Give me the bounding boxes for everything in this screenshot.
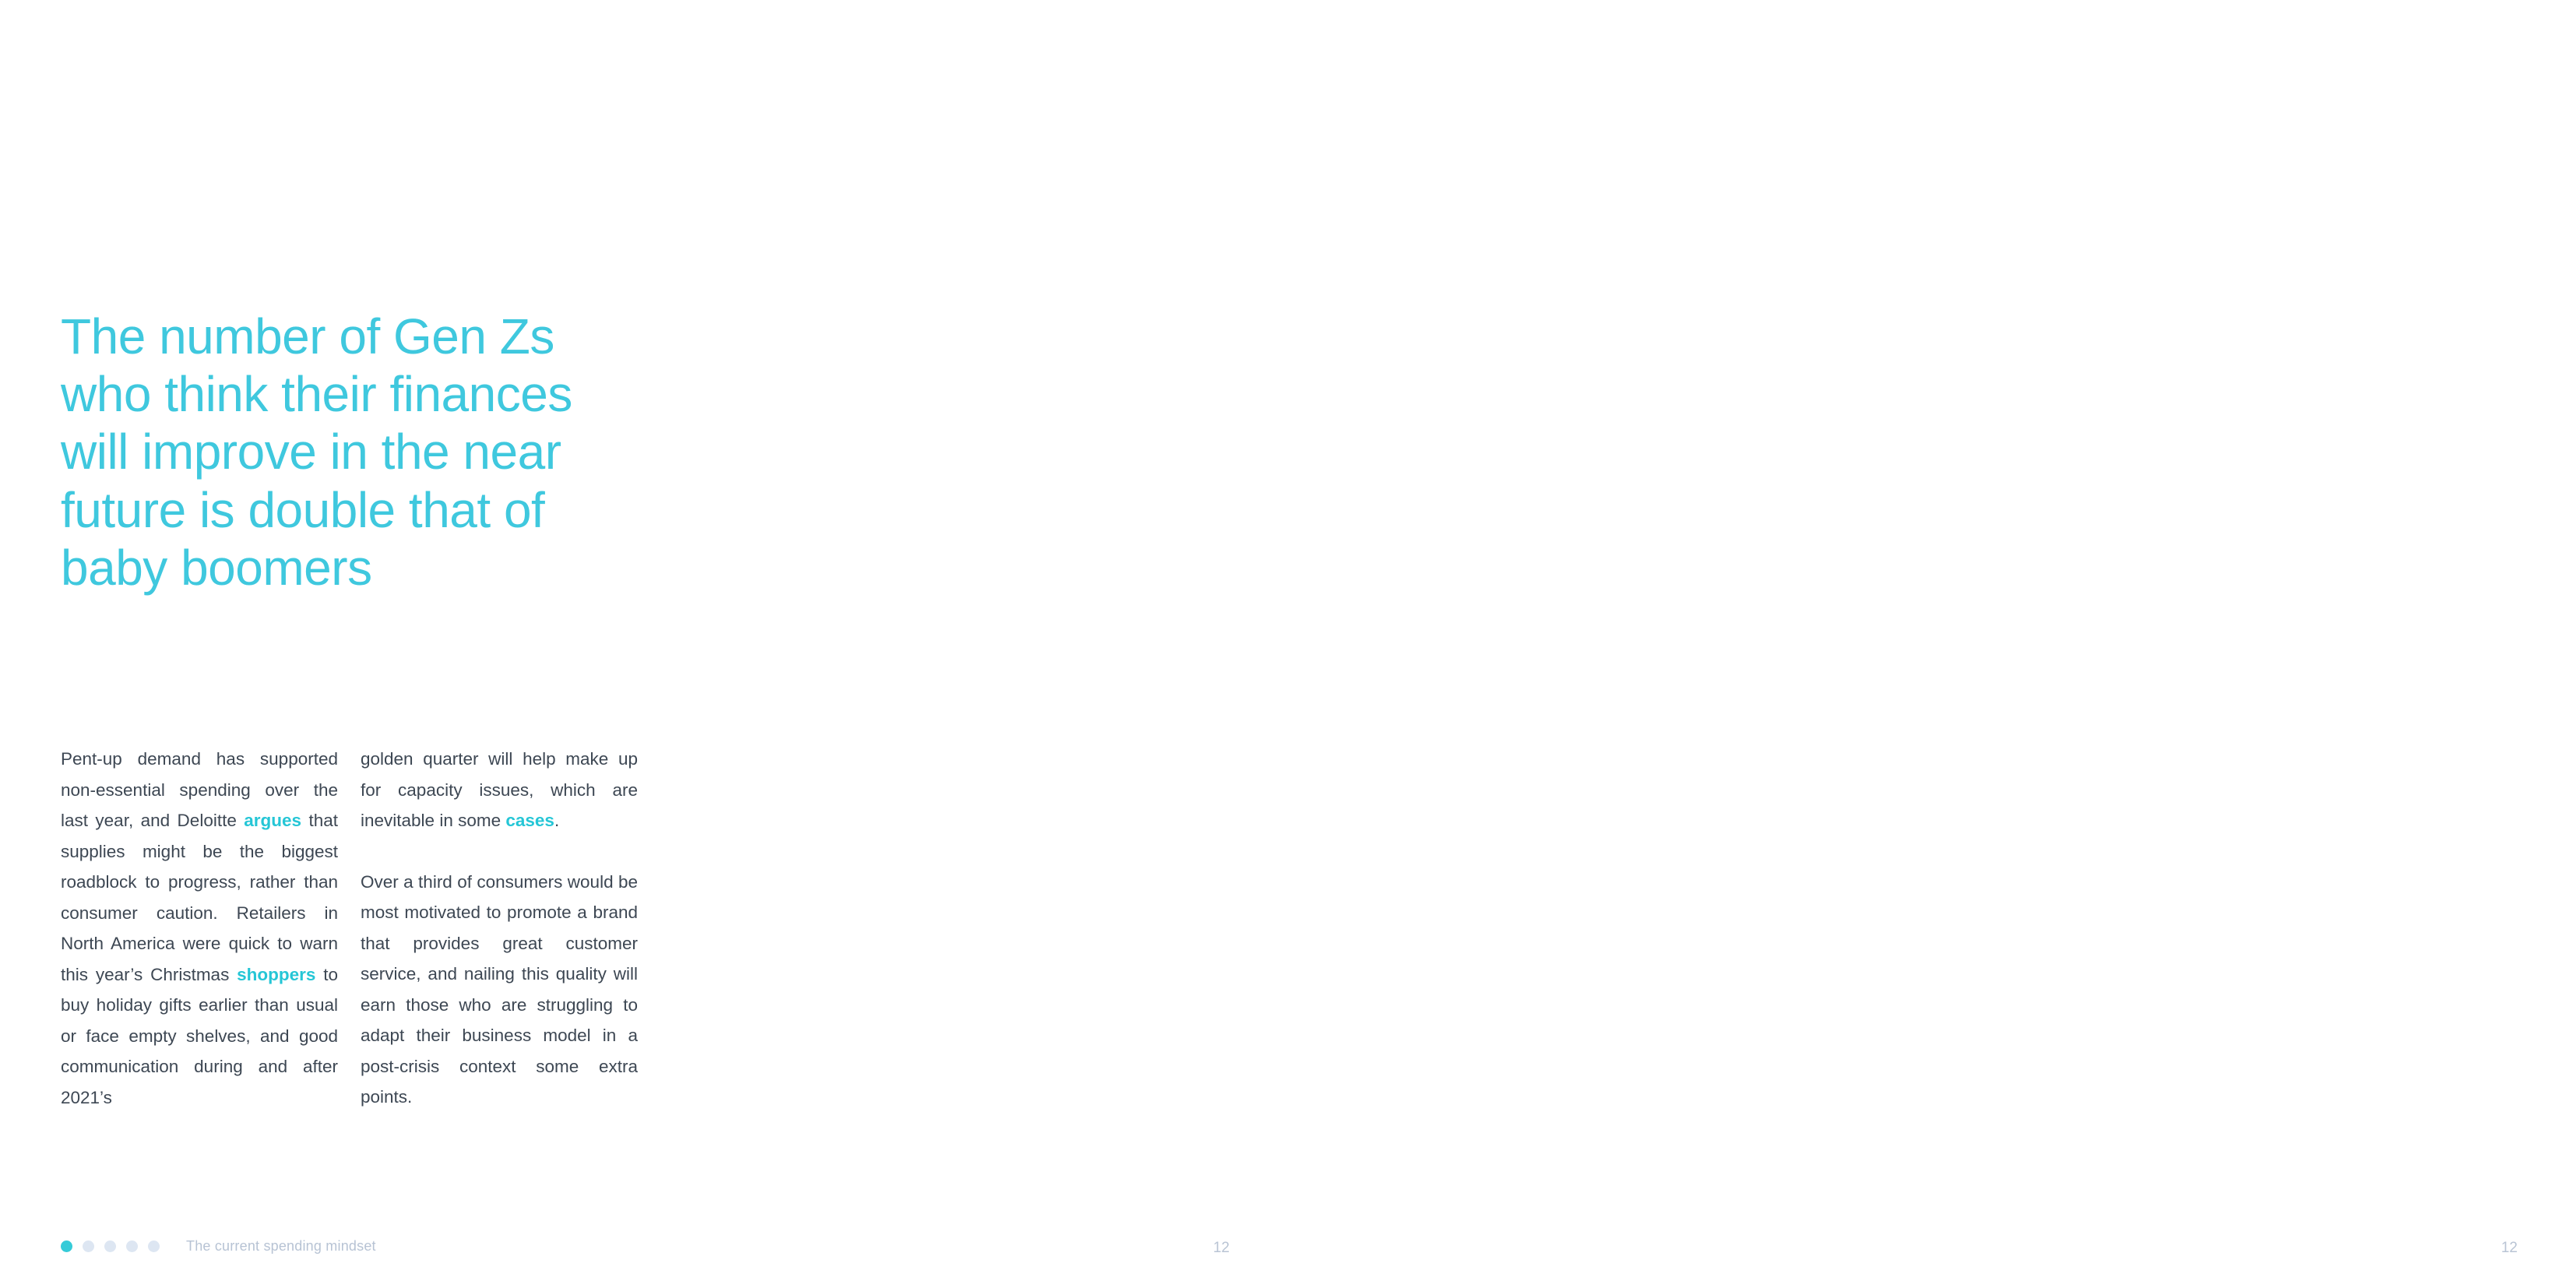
progress-dot-1[interactable] (61, 1240, 72, 1252)
body-text: golden quarter will help make up for cap… (361, 749, 638, 830)
inline-link-argues[interactable]: argues (244, 811, 301, 830)
left-page-number: 12 (1213, 1240, 1230, 1257)
progress-dot-4[interactable] (126, 1240, 138, 1252)
body-text: to buy holiday gifts earlier than usual … (61, 965, 338, 1107)
body-paragraph: golden quarter will help make up for cap… (361, 744, 638, 836)
body-paragraph-2: Over a third of consumers would be most … (361, 867, 638, 1113)
inline-link-shoppers[interactable]: shoppers (237, 965, 315, 984)
progress-dot-2[interactable] (83, 1240, 94, 1252)
body-column-2: golden quarter will help make up for cap… (361, 744, 638, 1113)
body-text: . (554, 811, 559, 830)
page-headline: The number of Gen Zs who think their fin… (61, 308, 653, 596)
body-text: that supplies might be the biggest roadb… (61, 811, 338, 984)
right-page-number: 12 (2501, 1240, 2518, 1257)
inline-link-cases[interactable]: cases (505, 811, 554, 830)
progress-dot-5[interactable] (148, 1240, 160, 1252)
section-label: The current spending mindset (186, 1238, 376, 1255)
body-paragraph: Pent-up demand has supported non-essenti… (61, 744, 338, 1113)
right-page: Economic optimism has bounced back % of … (1288, 0, 2576, 1288)
section-progress-indicator: The current spending mindset (61, 1238, 376, 1255)
body-column-1: Pent-up demand has supported non-essenti… (61, 744, 338, 1113)
progress-dot-3[interactable] (104, 1240, 116, 1252)
left-page: The number of Gen Zs who think their fin… (0, 0, 1288, 1288)
